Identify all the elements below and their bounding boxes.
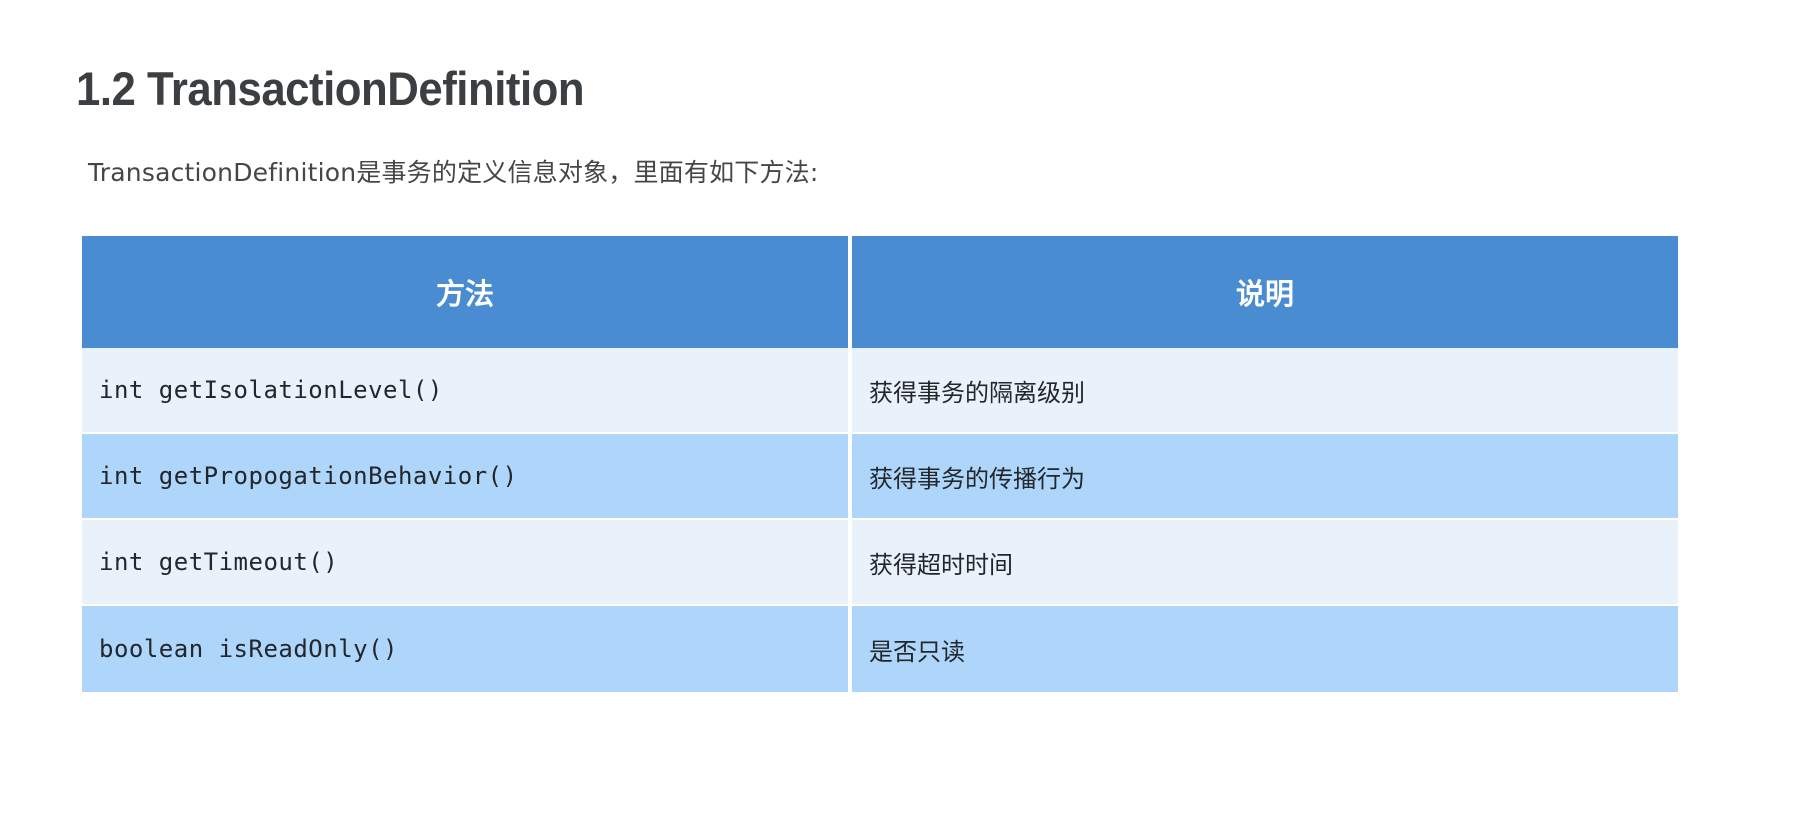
document-page: 1.2 TransactionDefinition TransactionDef… (0, 0, 1794, 821)
intro-paragraph: TransactionDefinition是事务的定义信息对象，里面有如下方法: (88, 154, 819, 192)
column-header-method: 方法 (82, 236, 852, 348)
cell-description: 获得事务的传播行为 (852, 434, 1678, 520)
cell-method: int getPropogationBehavior() (82, 434, 852, 520)
column-header-description: 说明 (852, 236, 1678, 348)
table-header-row: 方法 说明 (82, 236, 1678, 348)
table-header: 方法 说明 (82, 236, 1678, 348)
table-row: boolean isReadOnly() 是否只读 (82, 606, 1678, 692)
cell-method: int getTimeout() (82, 520, 852, 606)
cell-description: 是否只读 (852, 606, 1678, 692)
page-title: 1.2 TransactionDefinition (76, 61, 584, 116)
table-row: int getPropogationBehavior() 获得事务的传播行为 (82, 434, 1678, 520)
cell-method: boolean isReadOnly() (82, 606, 852, 692)
cell-method: int getIsolationLevel() (82, 348, 852, 434)
table-row: int getIsolationLevel() 获得事务的隔离级别 (82, 348, 1678, 434)
cell-description: 获得事务的隔离级别 (852, 348, 1678, 434)
table-body: int getIsolationLevel() 获得事务的隔离级别 int ge… (82, 348, 1678, 692)
cell-description: 获得超时时间 (852, 520, 1678, 606)
table-row: int getTimeout() 获得超时时间 (82, 520, 1678, 606)
transaction-definition-methods-table: 方法 说明 int getIsolationLevel() 获得事务的隔离级别 … (82, 236, 1678, 692)
